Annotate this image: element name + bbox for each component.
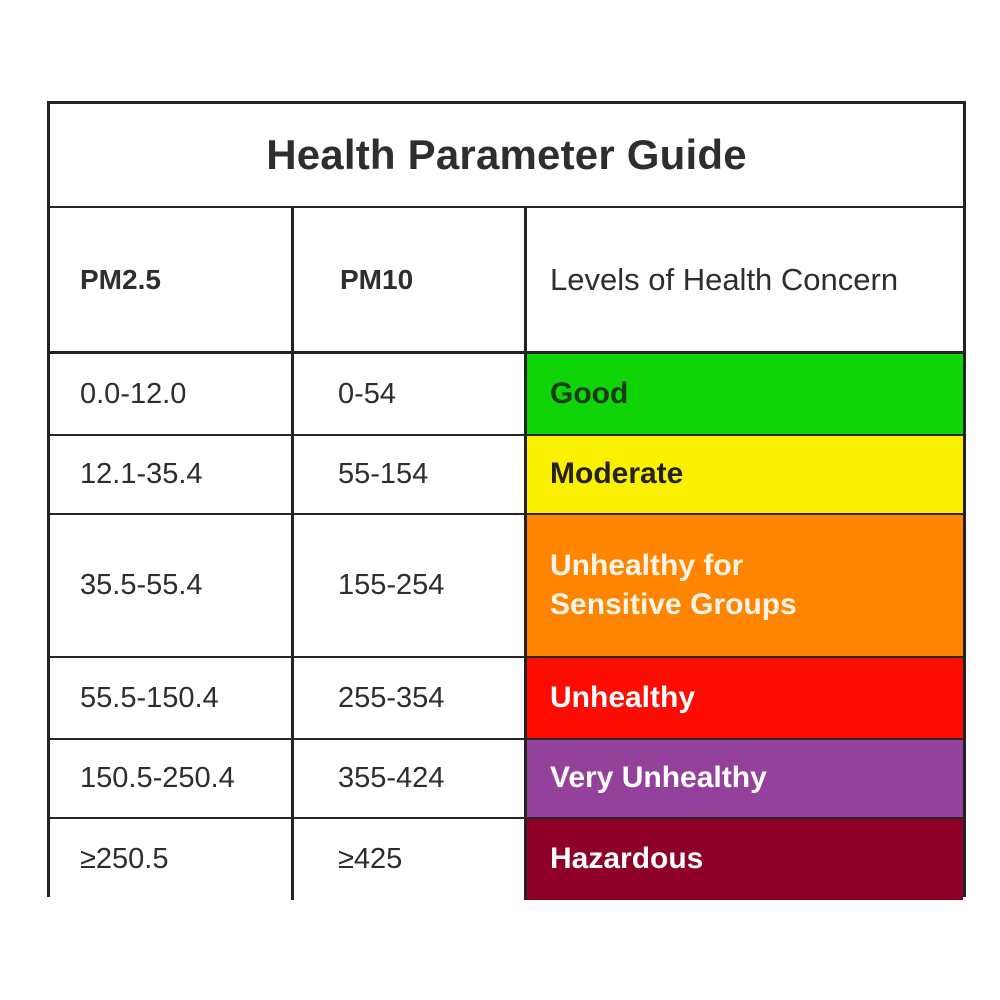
- table-title-row: Health Parameter Guide: [50, 104, 963, 208]
- cell-level-very-unhealthy: Very Unhealthy: [524, 740, 963, 817]
- cell-pm10-value: ≥425: [338, 843, 402, 876]
- cell-pm10: 355-424: [291, 740, 524, 817]
- level-label-line1: Unhealthy for: [550, 547, 797, 585]
- table-row: 12.1-35.4 55-154 Moderate: [50, 436, 963, 515]
- cell-pm25: 35.5-55.4: [50, 515, 291, 656]
- table-header-row: PM2.5 PM10 Levels of Health Concern: [50, 208, 963, 354]
- cell-pm10: 55-154: [291, 436, 524, 513]
- cell-pm10-value: 55-154: [338, 458, 428, 491]
- health-parameter-guide-table: Health Parameter Guide PM2.5 PM10 Levels…: [47, 101, 966, 897]
- cell-pm25-value: 55.5-150.4: [80, 682, 219, 715]
- cell-pm25-value: 35.5-55.4: [80, 569, 203, 602]
- cell-level-good: Good: [524, 354, 963, 434]
- table-row: 150.5-250.4 355-424 Very Unhealthy: [50, 740, 963, 819]
- level-label-line1: Good: [550, 375, 628, 413]
- cell-pm25-value: 150.5-250.4: [80, 762, 235, 795]
- table-row: 0.0-12.0 0-54 Good: [50, 354, 963, 436]
- table-row: ≥250.5 ≥425 Hazardous: [50, 819, 963, 900]
- cell-level-moderate: Moderate: [524, 436, 963, 513]
- cell-pm25: 12.1-35.4: [50, 436, 291, 513]
- cell-pm10-value: 0-54: [338, 378, 396, 411]
- cell-pm25-value: 0.0-12.0: [80, 378, 186, 411]
- table-row: 55.5-150.4 255-354 Unhealthy: [50, 658, 963, 740]
- page-title: Health Parameter Guide: [266, 131, 747, 179]
- cell-pm25: 150.5-250.4: [50, 740, 291, 817]
- cell-pm25: 55.5-150.4: [50, 658, 291, 738]
- cell-level-unhealthy-sensitive: Unhealthy for Sensitive Groups: [524, 515, 963, 656]
- column-header-pm10: PM10: [291, 208, 524, 351]
- level-label-line1: Moderate: [550, 455, 683, 493]
- level-label-line2: Sensitive Groups: [550, 586, 797, 624]
- level-label-line1: Unhealthy: [550, 679, 695, 717]
- cell-level-unhealthy: Unhealthy: [524, 658, 963, 738]
- cell-pm10-value: 155-254: [338, 569, 444, 602]
- cell-pm10-value: 255-354: [338, 682, 444, 715]
- cell-pm10: 155-254: [291, 515, 524, 656]
- table-row: 35.5-55.4 155-254 Unhealthy for Sensitiv…: [50, 515, 963, 658]
- cell-pm10: 255-354: [291, 658, 524, 738]
- level-label-line1: Hazardous: [550, 840, 703, 878]
- table-body: 0.0-12.0 0-54 Good 12.1-35.4 55-154 Mode…: [50, 354, 963, 900]
- cell-pm10: 0-54: [291, 354, 524, 434]
- cell-pm25-value: 12.1-35.4: [80, 458, 203, 491]
- column-header-pm25: PM2.5: [50, 208, 291, 351]
- cell-pm25-value: ≥250.5: [80, 843, 169, 876]
- level-label-line1: Very Unhealthy: [550, 759, 767, 797]
- cell-pm25: ≥250.5: [50, 819, 291, 900]
- cell-level-hazardous: Hazardous: [524, 819, 963, 900]
- cell-pm10-value: 355-424: [338, 762, 444, 795]
- cell-pm10: ≥425: [291, 819, 524, 900]
- column-header-levels: Levels of Health Concern: [524, 208, 963, 351]
- cell-pm25: 0.0-12.0: [50, 354, 291, 434]
